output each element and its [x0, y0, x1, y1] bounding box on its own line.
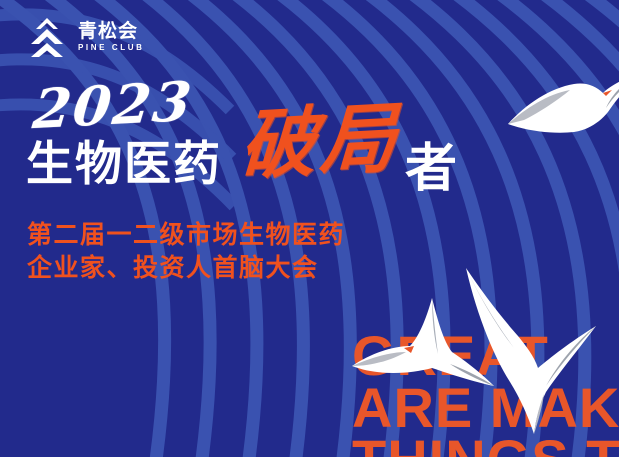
brand-name-en: PINE CLUB: [78, 44, 145, 52]
brand-name-cn: 青松会: [78, 22, 145, 41]
subtitle-line-2: 企业家、投资人首脑大会: [27, 252, 345, 285]
subtitle-line-1: 第二届一二级市场生物医药: [27, 219, 345, 252]
headline: 生物医药: [26, 140, 222, 187]
headline-accent-script: 破局: [238, 100, 402, 185]
pine-tree-icon: [25, 16, 69, 58]
seagull-icon: [448, 258, 619, 443]
headline-suffix: 者: [405, 143, 457, 195]
seagull-icon: [500, 60, 619, 170]
year-text: 2023: [31, 74, 196, 136]
subtitle: 第二届一二级市场生物医药 企业家、投资人首脑大会: [27, 219, 345, 286]
headline-prefix: 生物医药: [26, 140, 222, 187]
event-poster: 青松会 PINE CLUB 2023 生物医药 破局 者 第二届一二级市场生物医…: [0, 0, 619, 457]
brand-logo: 青松会 PINE CLUB: [25, 16, 145, 58]
